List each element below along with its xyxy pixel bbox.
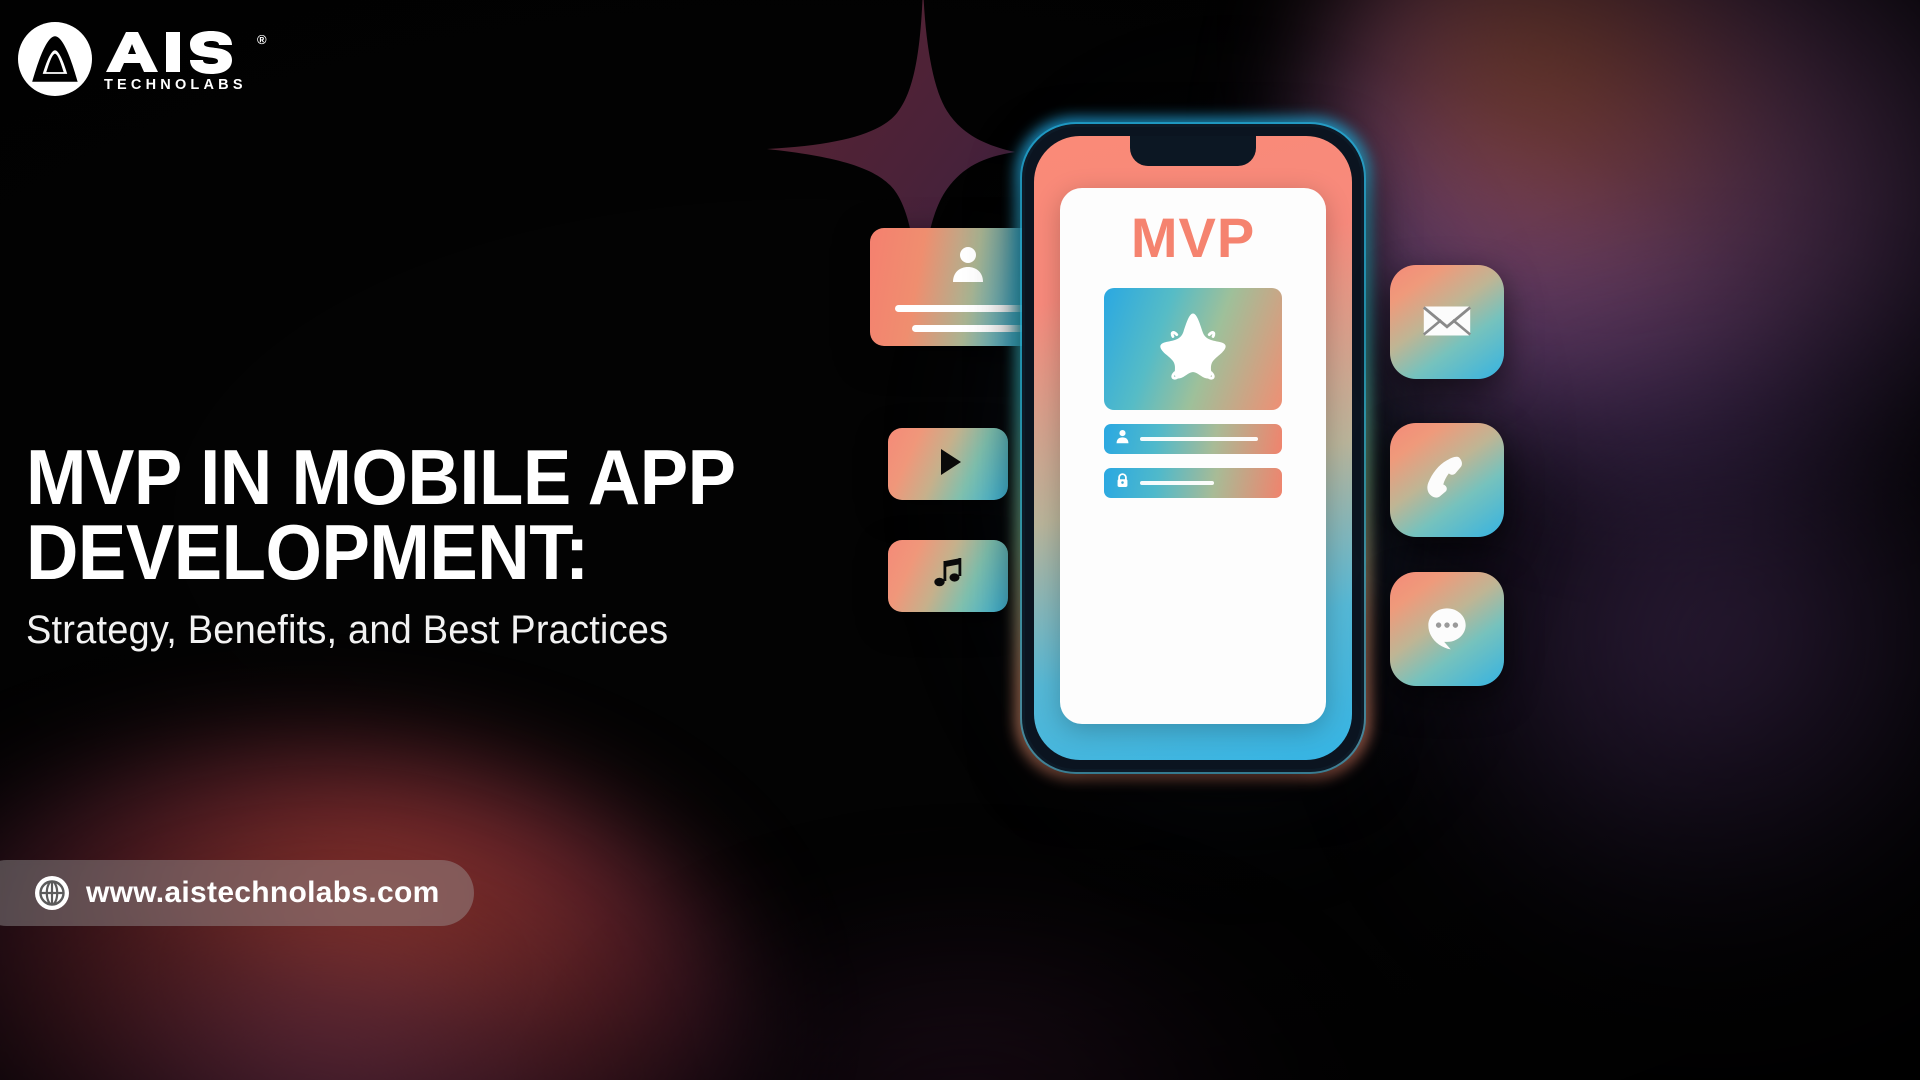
password-value-line bbox=[1140, 481, 1214, 485]
music-tile[interactable] bbox=[888, 540, 1008, 612]
globe-icon bbox=[34, 875, 70, 911]
app-title: MVP bbox=[1131, 210, 1255, 266]
phone-notch bbox=[1130, 136, 1256, 166]
username-field[interactable] bbox=[1104, 424, 1282, 454]
website-url-bar[interactable]: www.aistechnolabs.com bbox=[0, 860, 474, 926]
logo-wordmark: ® TECHNOLABS bbox=[104, 26, 267, 93]
phone-screen: MVP bbox=[1034, 136, 1352, 760]
ais-triangle-logo-icon bbox=[18, 22, 92, 96]
music-note-icon bbox=[928, 554, 968, 599]
banner-canvas: ® TECHNOLABS MVP IN MOBILE APP DEVELOPME… bbox=[0, 0, 1920, 1080]
phone-mockup: MVP bbox=[1022, 124, 1364, 772]
phone-icon-tile[interactable] bbox=[1390, 423, 1504, 537]
play-icon bbox=[928, 442, 968, 487]
username-value-line bbox=[1140, 437, 1258, 441]
chat-icon-tile[interactable] bbox=[1390, 572, 1504, 686]
app-content-card: MVP bbox=[1060, 188, 1326, 724]
registered-trademark-symbol: ® bbox=[257, 33, 267, 46]
phone-body: MVP bbox=[1022, 124, 1364, 772]
ais-wordmark-icon bbox=[104, 30, 254, 74]
star-icon bbox=[1150, 304, 1236, 395]
password-field[interactable] bbox=[1104, 468, 1282, 498]
chat-bubble-dots-icon bbox=[1419, 599, 1475, 660]
mail-icon-tile[interactable] bbox=[1390, 265, 1504, 379]
page-subtitle: Strategy, Benefits, and Best Practices bbox=[26, 608, 881, 653]
background-glow-bottom-left-pink bbox=[40, 930, 600, 1080]
background-glow-top-right-orange bbox=[1330, 0, 1750, 220]
person-icon bbox=[1114, 428, 1131, 450]
mail-envelope-icon bbox=[1418, 291, 1476, 354]
page-title: MVP IN MOBILE APP DEVELOPMENT: bbox=[26, 440, 863, 590]
website-url-text: www.aistechnolabs.com bbox=[86, 876, 440, 910]
hero-text-block: MVP IN MOBILE APP DEVELOPMENT: Strategy,… bbox=[26, 440, 926, 653]
person-icon bbox=[946, 242, 990, 291]
lock-icon bbox=[1114, 472, 1131, 494]
bubble-text-line-2 bbox=[912, 325, 1024, 332]
play-tile[interactable] bbox=[888, 428, 1008, 500]
background-glow-bottom-center bbox=[620, 950, 1320, 1080]
background-glow-top-right-pink bbox=[1310, 0, 1920, 500]
phone-handset-icon bbox=[1419, 450, 1475, 511]
hero-tile[interactable] bbox=[1104, 288, 1282, 410]
logo-tagline: TECHNOLABS bbox=[104, 77, 267, 93]
brand-logo[interactable]: ® TECHNOLABS bbox=[18, 22, 267, 96]
